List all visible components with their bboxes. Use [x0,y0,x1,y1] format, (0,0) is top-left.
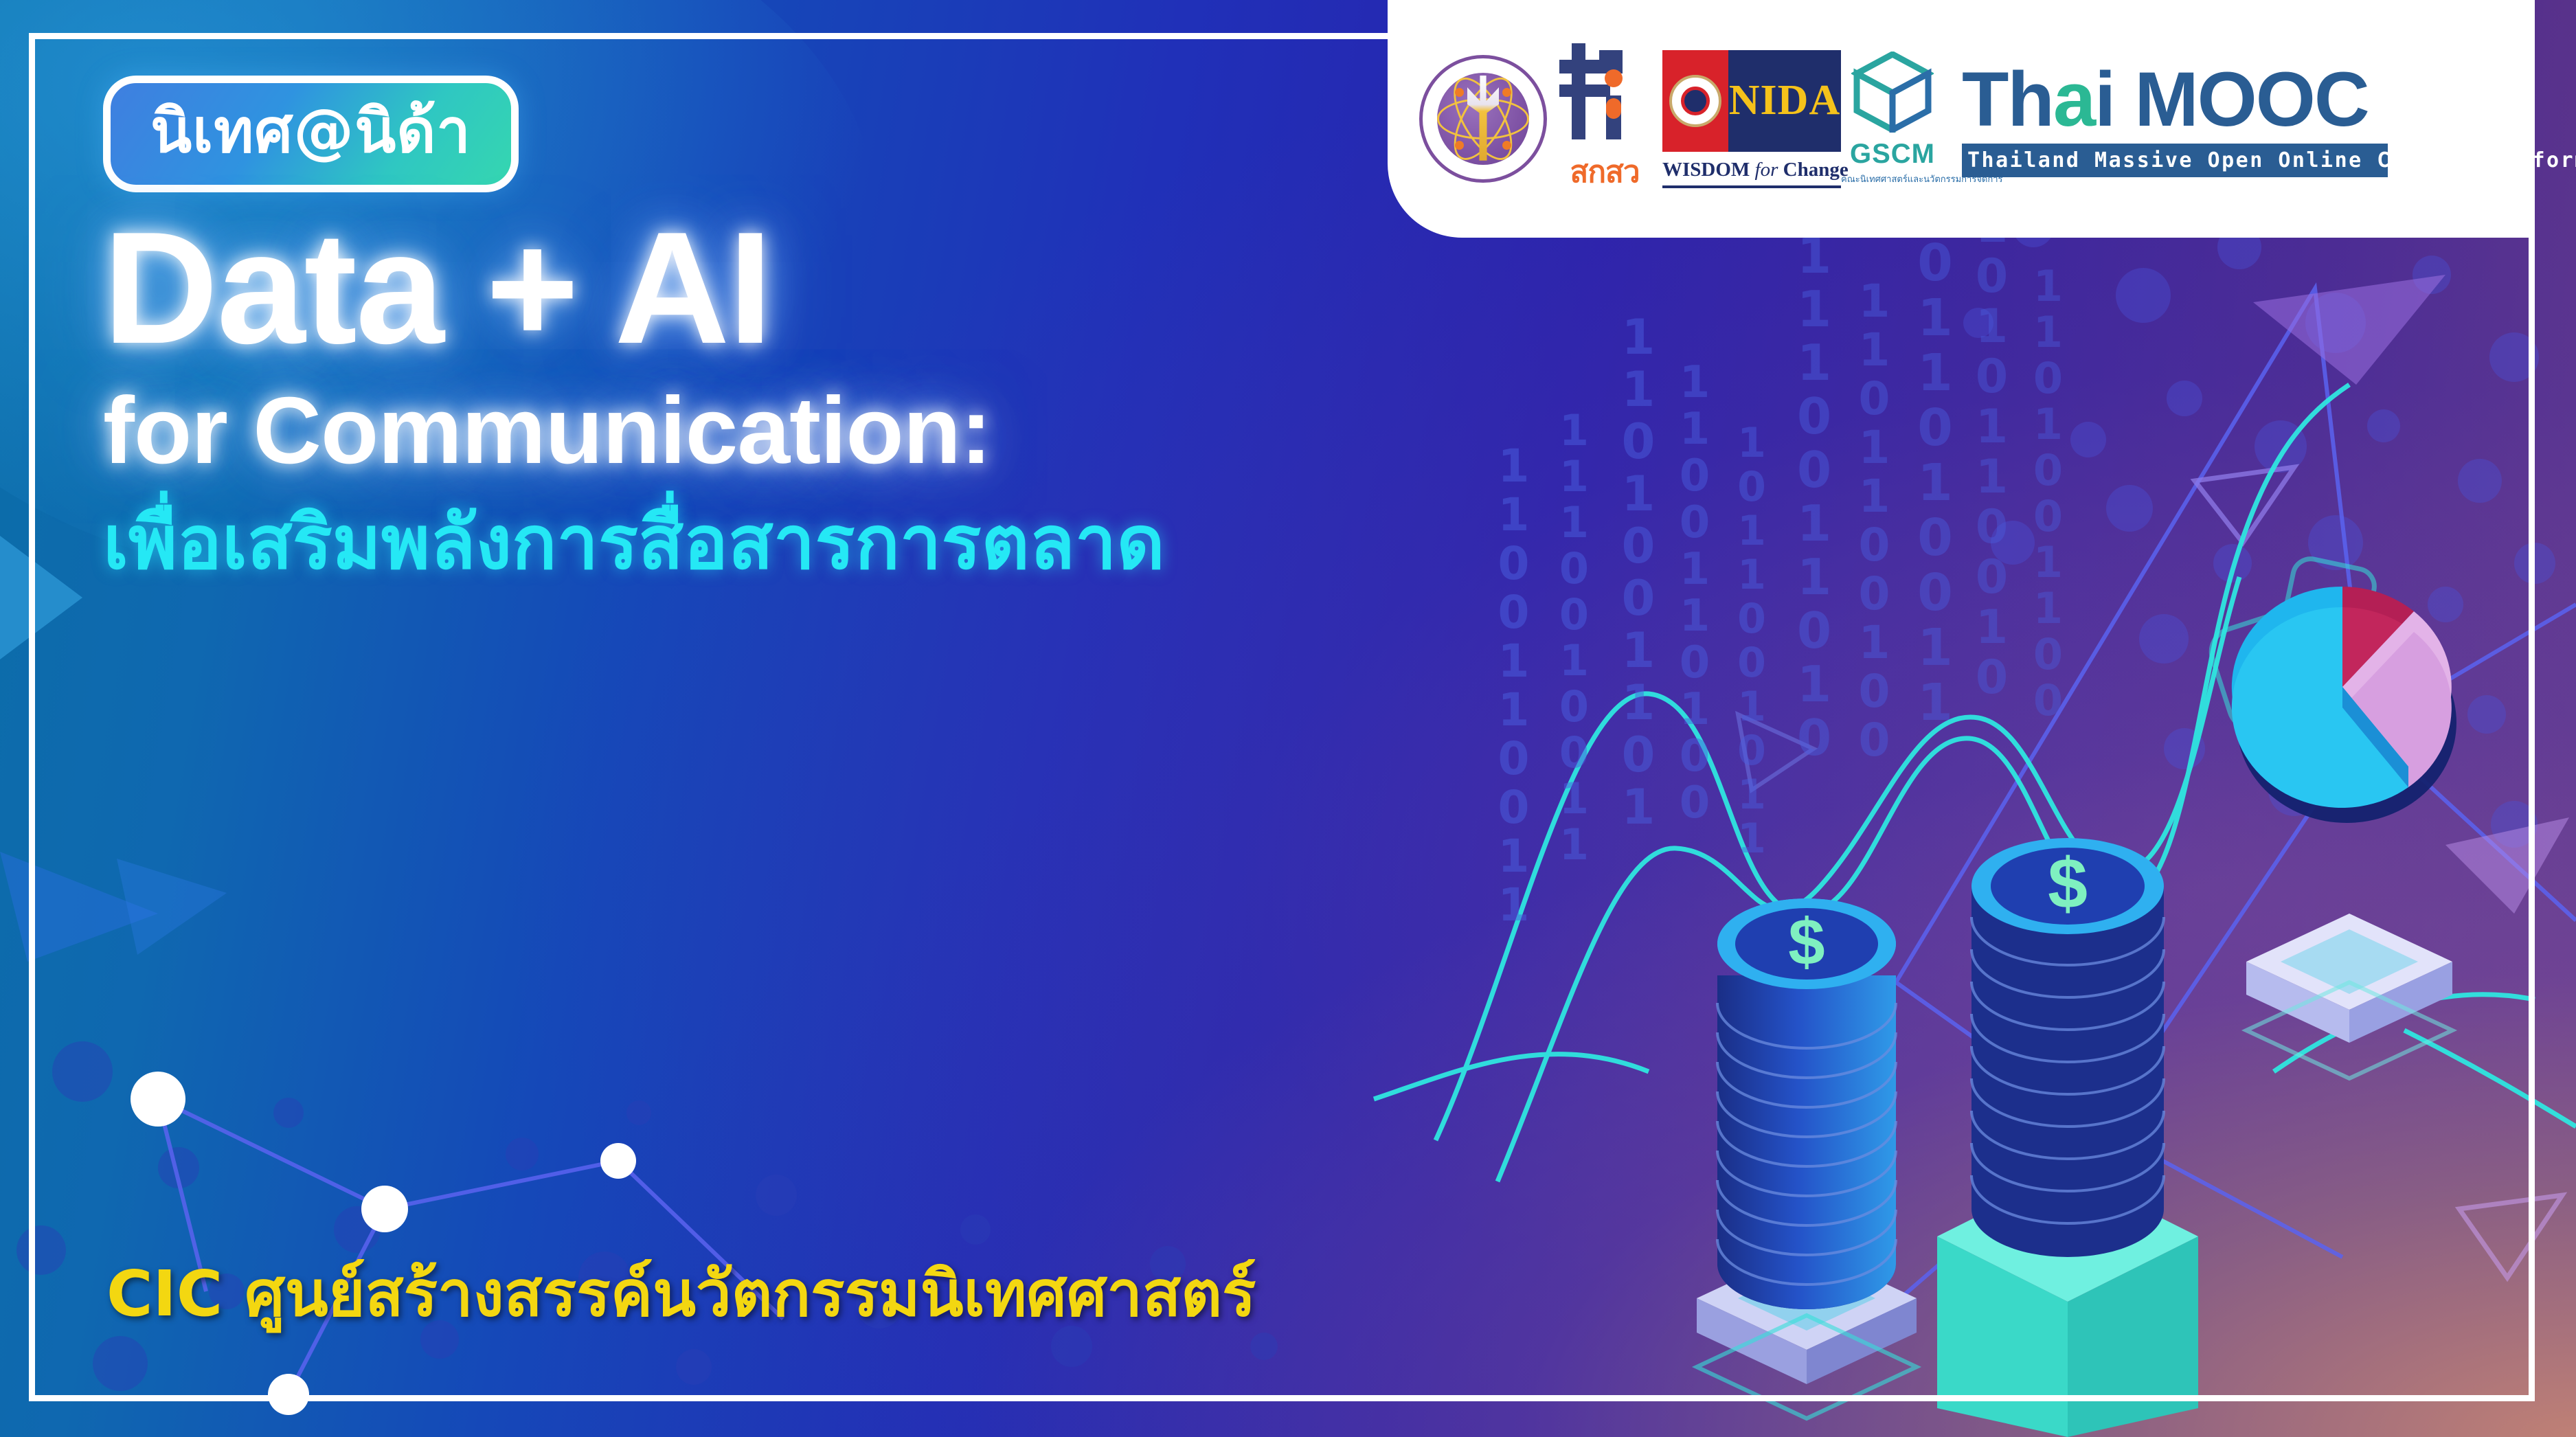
pedestal-tray-right [2246,914,2452,1078]
nida-seal-icon [1662,50,1728,152]
dot-field-left [16,1041,1278,1391]
gscm-thai-label: คณะนิเทศศาสตร์และนวัตกรรมการจัดการ [1841,172,1944,186]
square-shapes [2205,556,2377,735]
binary-column: 1110010011 [1552,405,1595,865]
nida-wordmark: NIDA [1729,76,1840,125]
binary-column: 1011001011 [1731,419,1772,859]
dollar-sign-icon: $ [2048,844,2088,924]
thai-subtitle: เพื่อเสริมพลังการสื่อสารการตลาด [103,506,1443,580]
binary-column: 1011010011 [1910,179,1961,728]
thai-mooc-logo: Thai MOOC Thailand Massive Open Online C… [1962,61,2388,177]
brand-badge-label: นิเทศ@นิด้า [150,95,471,166]
coin-stack-left: $ [1697,898,1917,1418]
headline-block: นิเทศ@นิด้า Data + AI for Communication:… [103,76,1443,580]
gscm-cube-icon [1851,52,1934,133]
coins-left: $ [1717,898,1896,1309]
dollar-sign-icon: $ [1788,905,1824,979]
tsri-mark-icon [1547,42,1662,145]
binary-column: 1101001101 [1614,309,1662,831]
partner-logo-panel: สกสว NIDA WISDOM for Change GSCM [1388,0,2535,238]
thai-mooc-tagline: Thailand Massive Open Online Course Plat… [1962,144,2388,177]
page-subtitle: for Communication: [103,383,1443,479]
gscm-acronym: GSCM [1841,139,1944,170]
footer-organization-label: CIC ศูนย์สร้างสรรค์นวัตกรรมนิเทศศาสตร์ [106,1263,1256,1326]
binary-column: 1101001100 [2026,261,2069,721]
promo-banner: $ [0,0,2576,1437]
tsri-label: สกสว [1547,148,1662,196]
gscm-logo: GSCM คณะนิเทศศาสตร์และนวัตกรรมการจัดการ [1841,52,1944,186]
dot-field-right [1963,206,2555,848]
coin-stack-right: $ [1937,838,2198,1437]
brand-badge: นิเทศ@นิด้า [103,76,519,192]
coins-right: $ [1971,838,2164,1257]
binary-column: 1100110100 [1673,357,1717,824]
pedestal-lavender [1697,1247,1917,1418]
ministry-seal-icon [1419,55,1547,183]
ministry-logo [1419,55,1547,183]
thai-mooc-wordmark: Thai MOOC [1962,61,2388,138]
pie-chart [2232,587,2456,823]
nida-logo: NIDA WISDOM for Change [1662,50,1841,188]
binary-column: 1110011010 [1789,227,1839,762]
pedestal-teal-cube [1937,1171,2198,1437]
tsri-logo: สกสว [1547,42,1662,196]
page-title: Data + AI [103,207,1443,370]
data-wave-curves [1374,385,2576,1181]
binary-column: 1101100100 [1851,275,1897,762]
binary-column: 1100110011 [1491,440,1536,927]
nida-tagline: WISDOM for Change [1662,152,1841,188]
binary-column: 1010110010 [1968,199,2015,701]
